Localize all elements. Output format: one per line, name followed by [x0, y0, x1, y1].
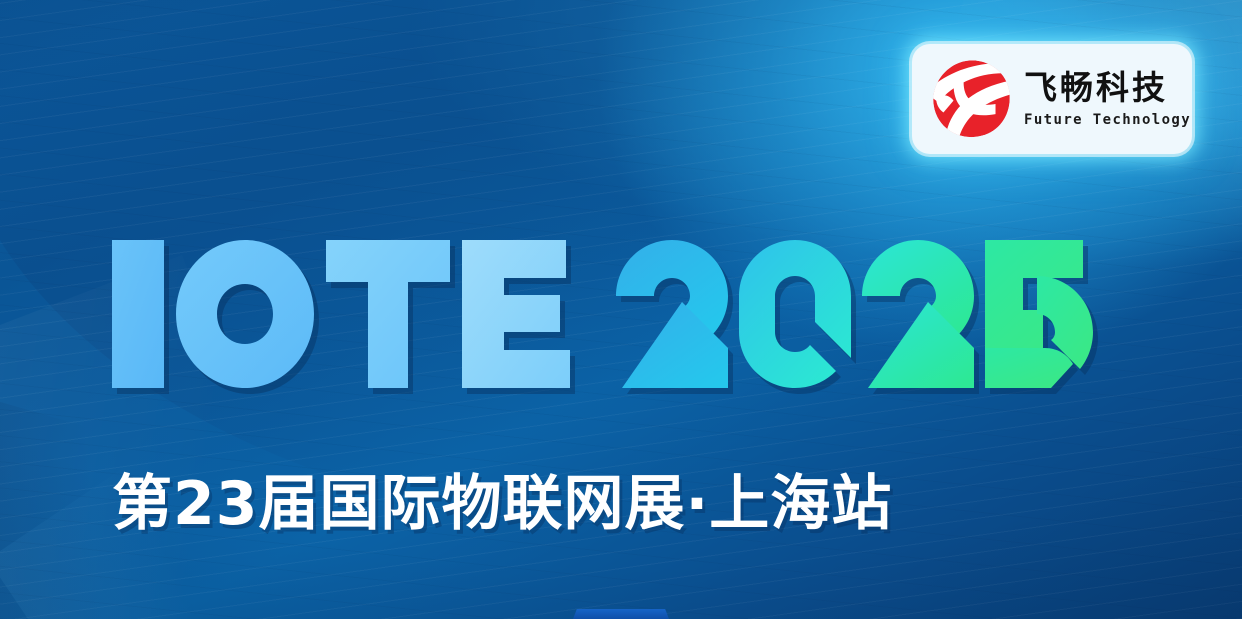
company-name-en: Future Technology — [1024, 113, 1191, 127]
iote-2025-banner: 飞畅科技 Future Technology — [0, 0, 1242, 619]
bottom-tab-marker — [573, 609, 669, 619]
event-year-2025 — [616, 240, 1093, 388]
company-logo-text: 飞畅科技 Future Technology — [1024, 71, 1191, 127]
flying-bird-circle-icon — [930, 57, 1014, 141]
digit-zero-glyph — [739, 240, 851, 388]
letter-t-glyph — [326, 240, 450, 388]
event-name-iote — [112, 240, 570, 388]
letter-i-glyph — [112, 240, 164, 388]
company-name-cn: 飞畅科技 — [1024, 71, 1191, 104]
digit-two-first-glyph — [616, 240, 728, 388]
event-subtitle: 第23届国际物联网展·上海站 — [112, 455, 892, 542]
digit-two-second-glyph — [862, 240, 974, 388]
letter-e-glyph — [462, 240, 570, 388]
digit-five-glyph — [985, 240, 1093, 388]
company-logo-card[interactable]: 飞畅科技 Future Technology — [912, 44, 1192, 154]
letter-o-glyph — [176, 240, 314, 388]
headline-lockup — [112, 240, 1093, 388]
